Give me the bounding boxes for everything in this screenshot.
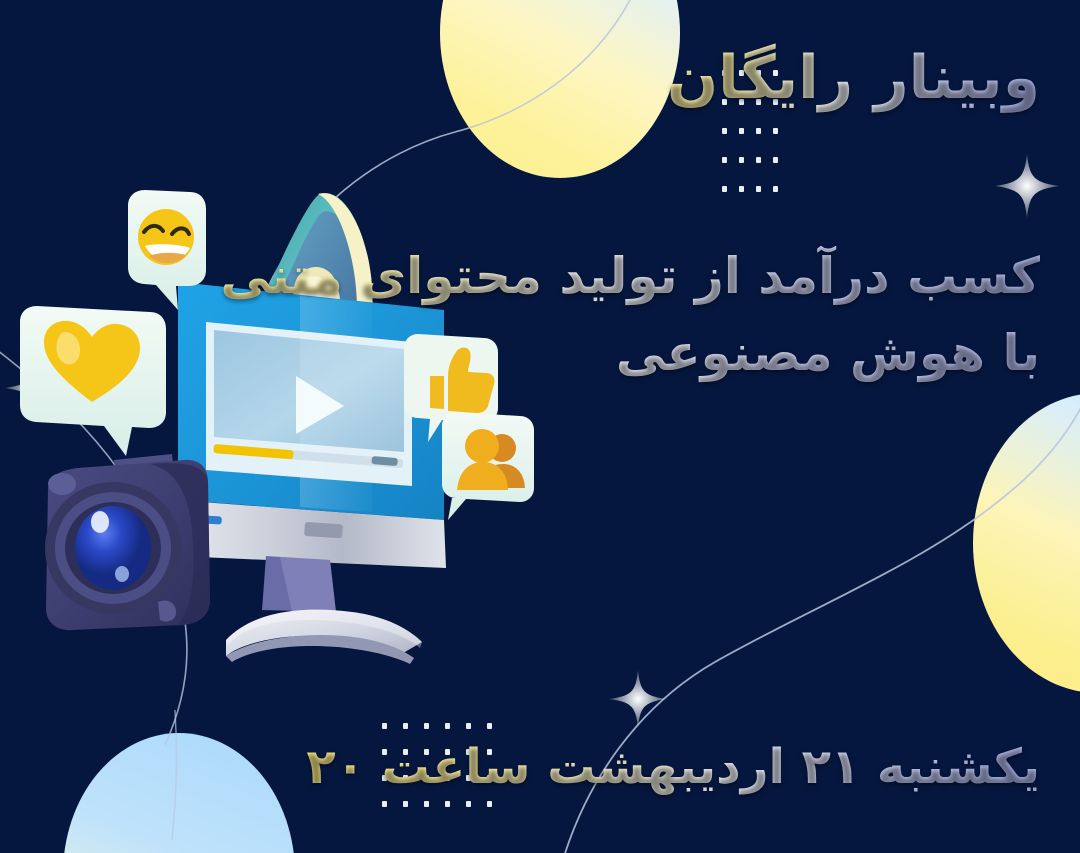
webinar-illustration: [0, 170, 560, 670]
bubble-users: [442, 412, 534, 520]
sparkle-icon-bottom-center: [607, 668, 669, 730]
blob-top-decoration: [440, 0, 680, 178]
blob-bottom-left-decoration: [63, 733, 295, 853]
headline-line-2: با هوش مصنوعی: [220, 323, 1040, 384]
camera-lens: [75, 506, 151, 590]
kicker-text: وبینار رایگان: [667, 42, 1040, 115]
blob-right-decoration: [973, 393, 1080, 693]
datetime-text: یکشنبه ۲۱ اردیبهشت ساعت ۲۰: [306, 738, 1040, 797]
bubble-heart: [20, 306, 166, 456]
headline: کسب درآمد از تولید محتوای متنی با هوش مص…: [220, 246, 1040, 384]
sparkle-icon-top-right: [993, 152, 1061, 220]
camera-illustration: [45, 454, 210, 630]
webinar-banner: وبینار رایگان کسب درآمد از تولید محتوای …: [0, 0, 1080, 853]
headline-line-1: کسب درآمد از تولید محتوای متنی: [220, 246, 1040, 307]
